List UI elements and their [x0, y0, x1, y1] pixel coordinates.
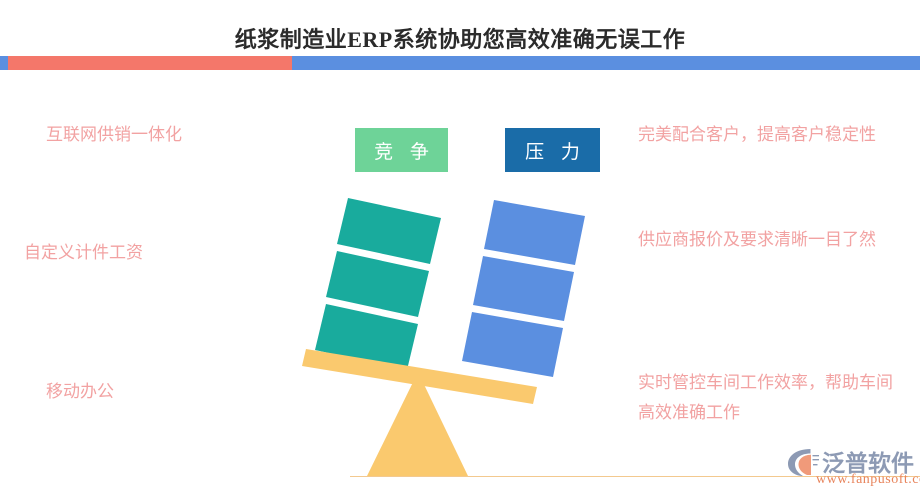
right-benefit-1: 完美配合客户，提高客户稳定性 — [638, 120, 906, 150]
left-weight-stack — [315, 198, 441, 370]
chip-pressure[interactable]: 压 力 — [505, 128, 600, 172]
fanpu-logo-icon — [786, 446, 820, 478]
right-block-3 — [462, 312, 563, 377]
right-block-2 — [473, 256, 574, 321]
chip-competition[interactable]: 竞 争 — [355, 128, 448, 172]
brand-logo[interactable]: 泛普软件 www.fanpusoft.com — [786, 444, 916, 496]
slide-canvas: 纸浆制造业ERP系统协助您高效准确无误工作 竞 争 压 力 互联网供销一体化 — [0, 0, 920, 500]
chip-competition-label: 竞 争 — [368, 137, 435, 164]
right-weight-stack — [462, 200, 585, 377]
left-feature-2: 自定义计件工资 — [24, 238, 274, 268]
left-block-2 — [326, 251, 429, 317]
chip-pressure-label: 压 力 — [519, 137, 586, 164]
left-feature-1: 互联网供销一体化 — [46, 120, 296, 150]
left-feature-3: 移动办公 — [46, 377, 296, 407]
right-benefit-3: 实时管控车间工作效率，帮助车间高效准确工作 — [638, 368, 906, 428]
left-block-1 — [337, 198, 441, 264]
right-block-1 — [484, 200, 585, 265]
logo-website-url: www.fanpusoft.com — [816, 472, 920, 488]
right-benefit-2: 供应商报价及要求清晰一目了然 — [638, 225, 906, 255]
